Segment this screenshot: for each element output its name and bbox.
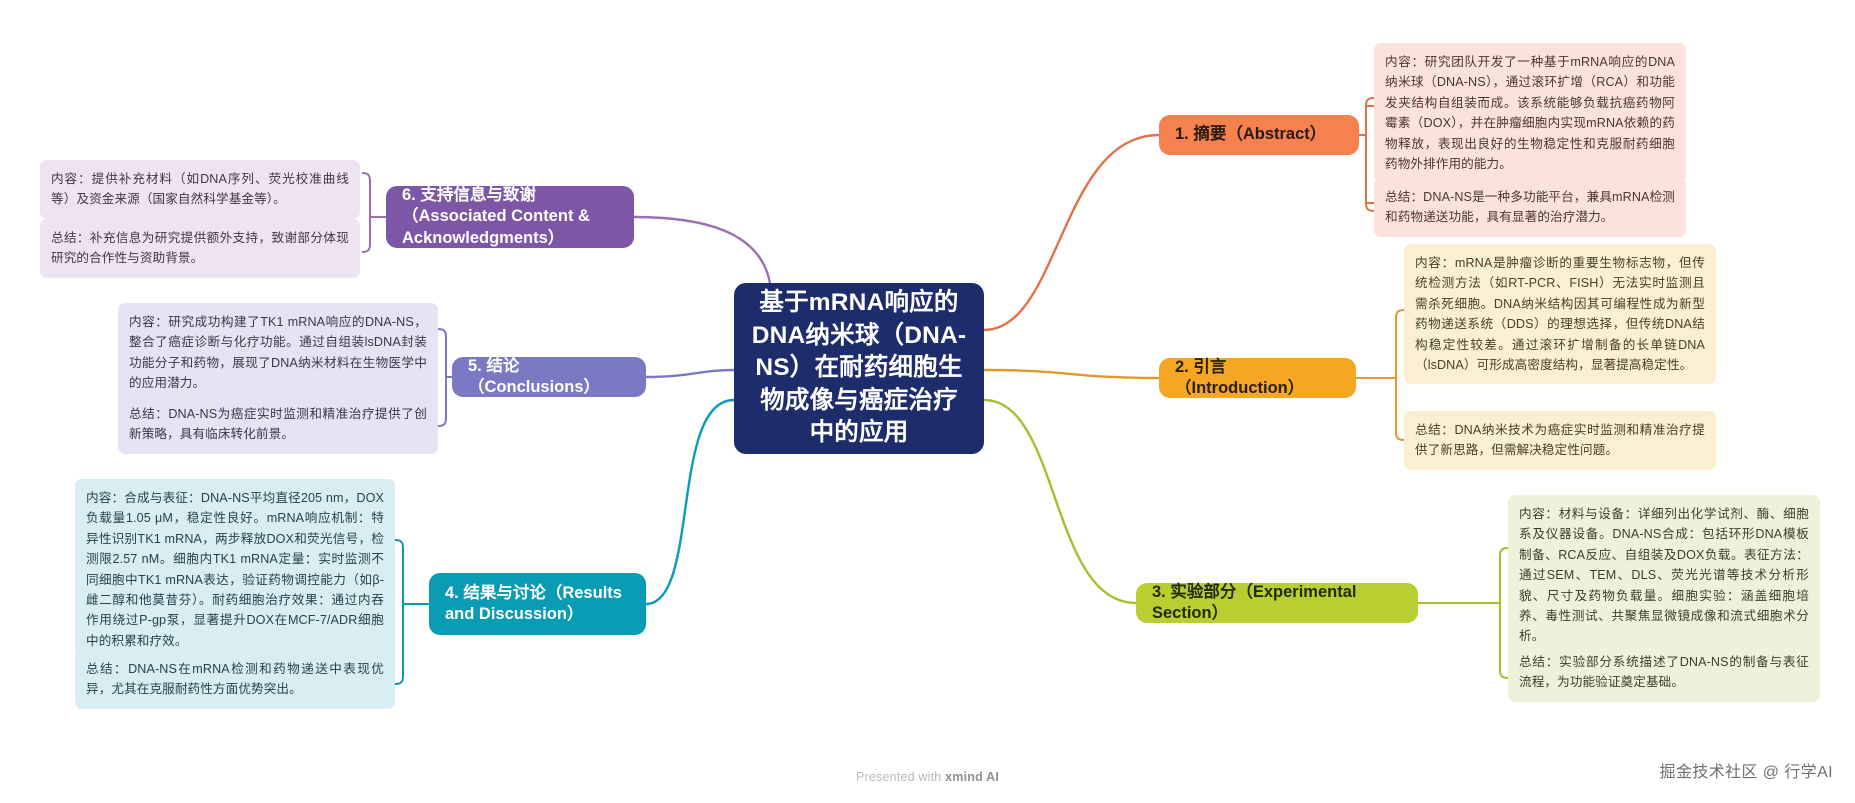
- central-topic[interactable]: 基于mRNA响应的DNA纳米球（DNA-NS）在耐药细胞生物成像与癌症治疗中的应…: [734, 283, 984, 454]
- branch-experimental-section-label: 3. 实验部分（Experimental Section）: [1152, 582, 1402, 625]
- note-abstract-summary[interactable]: 总结：DNA-NS是一种多功能平台，兼具mRNA检测和药物递送功能，具有显著的治…: [1374, 178, 1686, 237]
- watermark-label: 掘金技术社区 @ 行学AI: [1660, 758, 1833, 782]
- branch-experimental-section[interactable]: 3. 实验部分（Experimental Section）: [1136, 583, 1418, 623]
- note-results-content[interactable]: 内容：合成与表征：DNA-NS平均直径205 nm，DOX负载量1.05 μM，…: [75, 479, 395, 660]
- branch-associated-content[interactable]: 6. 支持信息与致谢（Associated Content & Acknowle…: [386, 186, 634, 248]
- branch-abstract[interactable]: 1. 摘要（Abstract）: [1159, 115, 1359, 155]
- footer-prefix: Presented with: [856, 770, 945, 784]
- note-associated-summary[interactable]: 总结：补充信息为研究提供额外支持，致谢部分体现研究的合作性与资助背景。: [40, 219, 360, 278]
- note-experimental-summary[interactable]: 总结：实验部分系统描述了DNA-NS的制备与表征流程，为功能验证奠定基础。: [1508, 643, 1820, 702]
- branch-abstract-label: 1. 摘要（Abstract）: [1175, 124, 1326, 145]
- branch-introduction[interactable]: 2. 引言（Introduction）: [1159, 358, 1356, 398]
- branch-results-discussion-label: 4. 结果与讨论（Results and Discussion）: [445, 583, 630, 626]
- branch-conclusions[interactable]: 5. 结论（Conclusions）: [452, 357, 646, 397]
- central-topic-label: 基于mRNA响应的DNA纳米球（DNA-NS）在耐药细胞生物成像与癌症治疗中的应…: [748, 287, 970, 450]
- note-introduction-content[interactable]: 内容：mRNA是肿瘤诊断的重要生物标志物，但传统检测方法（如RT-PCR、FIS…: [1404, 244, 1716, 384]
- note-introduction-summary[interactable]: 总结：DNA纳米技术为癌症实时监测和精准治疗提供了新思路，但需解决稳定性问题。: [1404, 411, 1716, 470]
- branch-results-discussion[interactable]: 4. 结果与讨论（Results and Discussion）: [429, 573, 646, 635]
- note-associated-content[interactable]: 内容：提供补充材料（如DNA序列、荧光校准曲线等）及资金来源（国家自然科学基金等…: [40, 160, 360, 219]
- mindmap-canvas[interactable]: 基于mRNA响应的DNA纳米球（DNA-NS）在耐药细胞生物成像与癌症治疗中的应…: [0, 0, 1855, 803]
- note-abstract-content[interactable]: 内容：研究团队开发了一种基于mRNA响应的DNA纳米球（DNA-NS），通过滚环…: [1374, 43, 1686, 183]
- note-conclusions-summary[interactable]: 总结：DNA-NS为癌症实时监测和精准治疗提供了创新策略，具有临床转化前景。: [118, 395, 438, 454]
- note-results-summary[interactable]: 总结：DNA-NS在mRNA检测和药物递送中表现优异，尤其在克服耐药性方面优势突…: [75, 650, 395, 709]
- note-conclusions-content[interactable]: 内容：研究成功构建了TK1 mRNA响应的DNA-NS，整合了癌症诊断与化疗功能…: [118, 303, 438, 403]
- footer-brand: xmind AI: [945, 770, 999, 784]
- branch-introduction-label: 2. 引言（Introduction）: [1175, 357, 1340, 400]
- footer-credit: Presented with xmind AI: [0, 770, 1855, 784]
- branch-associated-content-label: 6. 支持信息与致谢（Associated Content & Acknowle…: [402, 185, 618, 249]
- branch-conclusions-label: 5. 结论（Conclusions）: [468, 356, 630, 399]
- note-experimental-content[interactable]: 内容：材料与设备：详细列出化学试剂、酶、细胞系及仪器设备。DNA-NS合成：包括…: [1508, 495, 1820, 656]
